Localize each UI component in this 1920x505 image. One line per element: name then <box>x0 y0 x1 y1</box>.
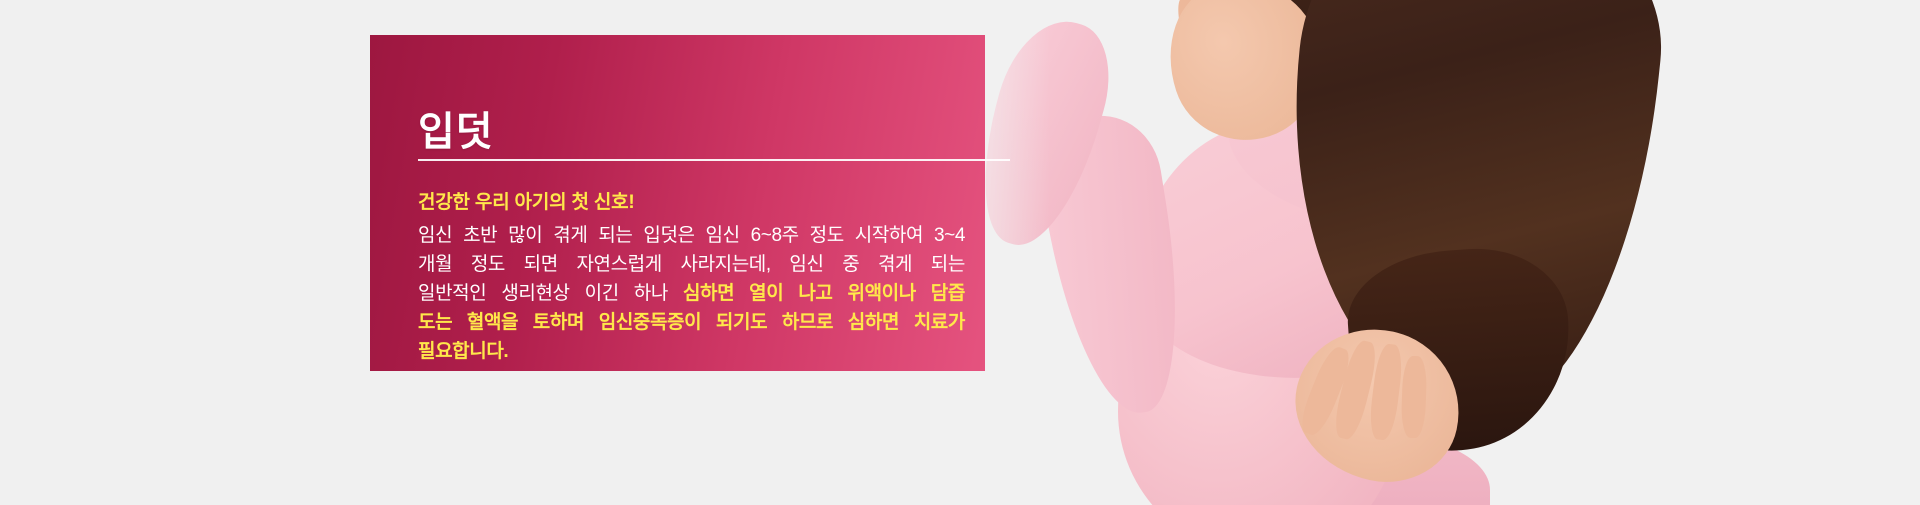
body-plain: 임신 <box>789 250 823 279</box>
body-line: 일반적인생리현상이긴하나심하면열이나고위액이나담즙 <box>418 279 965 308</box>
body-highlight: 도는 <box>418 308 452 337</box>
body-highlight: 나고 <box>798 279 832 308</box>
body-plain: 입덧은 <box>643 221 694 250</box>
body-plain: 중 <box>842 250 859 279</box>
title-divider <box>418 159 1010 161</box>
body-highlight: 심하면 <box>683 279 734 308</box>
body-plain: 개월 <box>418 250 452 279</box>
body-plain: 일반적인 <box>418 279 486 308</box>
body-plain: 이긴 <box>585 279 619 308</box>
body-plain: 사라지는데, <box>680 250 770 279</box>
body-plain: 시작하여 <box>855 221 923 250</box>
body-plain: 되는 <box>598 221 632 250</box>
body-highlight: 하므로 <box>782 308 833 337</box>
body-plain: 하나 <box>634 279 668 308</box>
body-plain: 3~4 <box>934 221 965 250</box>
body-plain: 자연스럽게 <box>576 250 661 279</box>
body-plain: 되면 <box>524 250 558 279</box>
body-highlight: 담즙 <box>931 279 965 308</box>
body-highlight: 임신중독증이 <box>599 308 701 337</box>
body-highlight: 심하면 <box>848 308 899 337</box>
body-highlight: 혈액을 <box>467 308 518 337</box>
body-highlight: 되기도 <box>716 308 767 337</box>
body-plain: 많이 <box>508 221 542 250</box>
body-line: 임신초반많이겪게되는입덧은임신6~8주정도시작하여3~4 <box>418 221 965 250</box>
body-plain: 생리현상 <box>501 279 569 308</box>
body-plain: 겪게 <box>878 250 912 279</box>
body-line: 필요합니다. <box>418 337 965 366</box>
body-highlight: 위액이나 <box>847 279 915 308</box>
body-plain: 임신 <box>418 221 452 250</box>
page-title: 입덧 <box>418 112 494 152</box>
body-highlight: 토하며 <box>533 308 584 337</box>
body-plain: 정도 <box>810 221 844 250</box>
subtitle: 건강한 우리 아기의 첫 신호! <box>418 187 635 214</box>
body-highlight: 치료가 <box>914 308 965 337</box>
body-plain: 임신 <box>706 221 740 250</box>
woman-figure <box>930 0 1920 505</box>
info-card: 입덧 건강한 우리 아기의 첫 신호! 임신초반많이겪게되는입덧은임신6~8주정… <box>370 35 985 371</box>
body-plain: 정도 <box>471 250 505 279</box>
body-paragraph: 임신초반많이겪게되는입덧은임신6~8주정도시작하여3~4개월정도되면자연스럽게사… <box>418 221 965 366</box>
body-plain: 초반 <box>463 221 497 250</box>
banner-root: 입덧 건강한 우리 아기의 첫 신호! 임신초반많이겪게되는입덧은임신6~8주정… <box>0 0 1920 505</box>
pregnant-woman-photo <box>930 0 1920 505</box>
body-plain: 겪게 <box>553 221 587 250</box>
body-highlight: 열이 <box>749 279 783 308</box>
body-plain: 되는 <box>931 250 965 279</box>
body-line: 개월정도되면자연스럽게사라지는데,임신중겪게되는 <box>418 250 965 279</box>
body-highlight: 필요합니다. <box>418 341 508 362</box>
body-line: 도는혈액을토하며임신중독증이되기도하므로심하면치료가 <box>418 308 965 337</box>
body-plain: 6~8주 <box>751 221 799 250</box>
